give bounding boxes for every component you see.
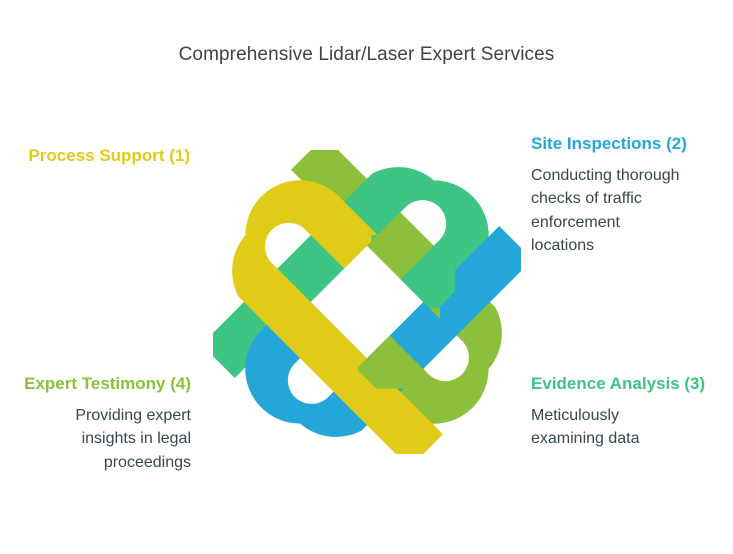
node-process-support-label: Process Support (1): [0, 145, 190, 166]
node-site-inspections-label: Site Inspections (2): [531, 133, 731, 154]
node-expert-testimony-description: Providing expert insights in legal proce…: [36, 404, 191, 474]
diagram-canvas: Comprehensive Lidar/Laser Expert Service…: [0, 0, 733, 554]
node-expert-testimony-label: Expert Testimony (4): [0, 373, 191, 394]
page-title: Comprehensive Lidar/Laser Expert Service…: [0, 44, 733, 66]
node-evidence-analysis[interactable]: Evidence Analysis (3) Meticulously exami…: [531, 373, 731, 451]
node-evidence-analysis-description: Meticulously examining data: [531, 404, 681, 450]
node-site-inspections[interactable]: Site Inspections (2) Conducting thorough…: [531, 133, 731, 257]
node-site-inspections-description: Conducting thorough checks of traffic en…: [531, 164, 683, 257]
node-expert-testimony[interactable]: Expert Testimony (4) Providing expert in…: [0, 373, 191, 474]
knot-graphic: [213, 150, 521, 454]
node-process-support[interactable]: Process Support (1): [0, 145, 190, 176]
node-evidence-analysis-label: Evidence Analysis (3): [531, 373, 731, 394]
knot-svg: [213, 150, 521, 454]
